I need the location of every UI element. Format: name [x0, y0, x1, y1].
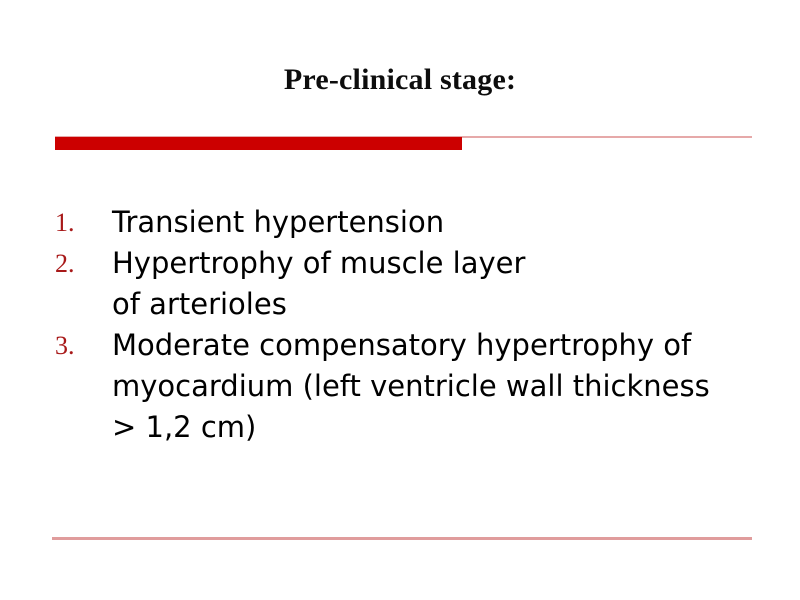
list-item: 1. Transient hypertension [55, 202, 755, 243]
title-divider-accent-bar [55, 137, 462, 150]
list-item: 3. Moderate compensatory hypertrophy of … [55, 325, 755, 448]
page-title: Pre-clinical stage: [0, 62, 800, 98]
numbered-list: 1. Transient hypertension 2. Hypertrophy… [55, 202, 755, 448]
footer-divider [52, 537, 752, 540]
list-item: 2. Hypertrophy of muscle layer of arteri… [55, 243, 755, 325]
list-item-label: Moderate compensatory hypertrophy of myo… [112, 325, 742, 448]
presentation-slide: Pre-clinical stage: 1. Transient hyperte… [0, 0, 800, 600]
title-divider [55, 136, 752, 150]
list-item-number: 2. [55, 243, 95, 284]
list-item-label: Transient hypertension [112, 202, 737, 243]
list-item-number: 1. [55, 202, 95, 243]
list-item-label: Hypertrophy of muscle layer of arteriole… [112, 243, 542, 325]
list-item-number: 3. [55, 325, 95, 366]
